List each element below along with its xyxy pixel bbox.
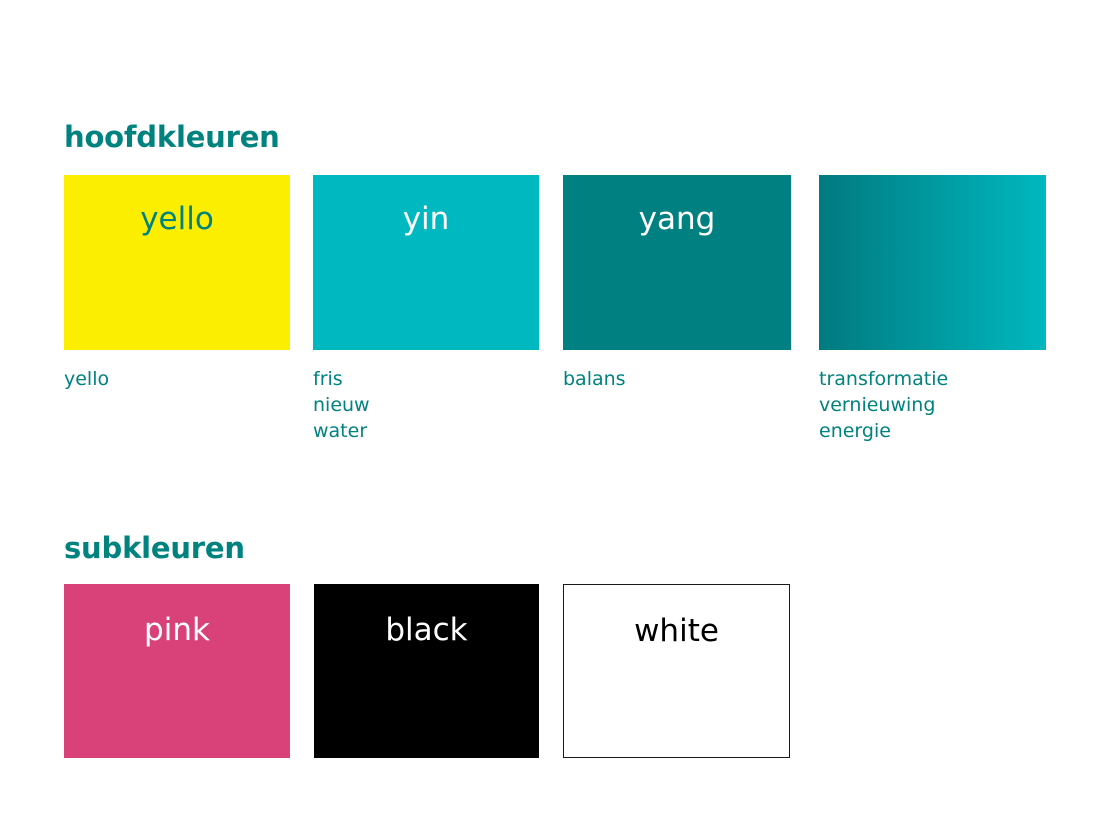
swatch-label-white: white [564, 616, 789, 647]
swatch-cell-yello[interactable]: yello yello [64, 175, 290, 392]
swatch-label-black: black [314, 615, 539, 646]
swatch-label-pink: pink [64, 615, 290, 646]
swatch-row-hoofdkleuren: yello yello yin fris nieuw water yang ba… [0, 175, 1111, 465]
swatch-box-black[interactable]: black [314, 584, 539, 758]
swatch-box-yang[interactable]: yang [563, 175, 791, 350]
swatch-caption-yin: fris nieuw water [313, 366, 539, 444]
swatch-box-white[interactable]: white [563, 584, 790, 758]
swatch-row-subkleuren: pink black white [0, 584, 1111, 764]
section-heading-subkleuren: subkleuren [64, 534, 245, 563]
section-heading-hoofdkleuren: hoofdkleuren [64, 123, 280, 152]
swatch-cell-pink[interactable]: pink [64, 584, 290, 758]
swatch-box-pink[interactable]: pink [64, 584, 290, 758]
swatch-caption-gradient: transformatie vernieuwing energie [819, 366, 1046, 444]
swatch-cell-gradient[interactable]: transformatie vernieuwing energie [819, 175, 1046, 444]
swatch-box-yin[interactable]: yin [313, 175, 539, 350]
swatch-box-yello[interactable]: yello [64, 175, 290, 350]
swatch-cell-yang[interactable]: yang balans [563, 175, 791, 392]
swatch-caption-yello: yello [64, 366, 290, 392]
swatch-label-yello: yello [64, 204, 290, 235]
swatch-cell-black[interactable]: black [314, 584, 539, 758]
color-palette-page: hoofdkleuren yello yello yin fris nieuw … [0, 0, 1111, 833]
swatch-caption-yang: balans [563, 366, 791, 392]
swatch-cell-white[interactable]: white [563, 584, 790, 758]
swatch-box-gradient[interactable] [819, 175, 1046, 350]
swatch-cell-yin[interactable]: yin fris nieuw water [313, 175, 539, 444]
swatch-label-yang: yang [563, 204, 791, 235]
swatch-label-yin: yin [313, 204, 539, 235]
